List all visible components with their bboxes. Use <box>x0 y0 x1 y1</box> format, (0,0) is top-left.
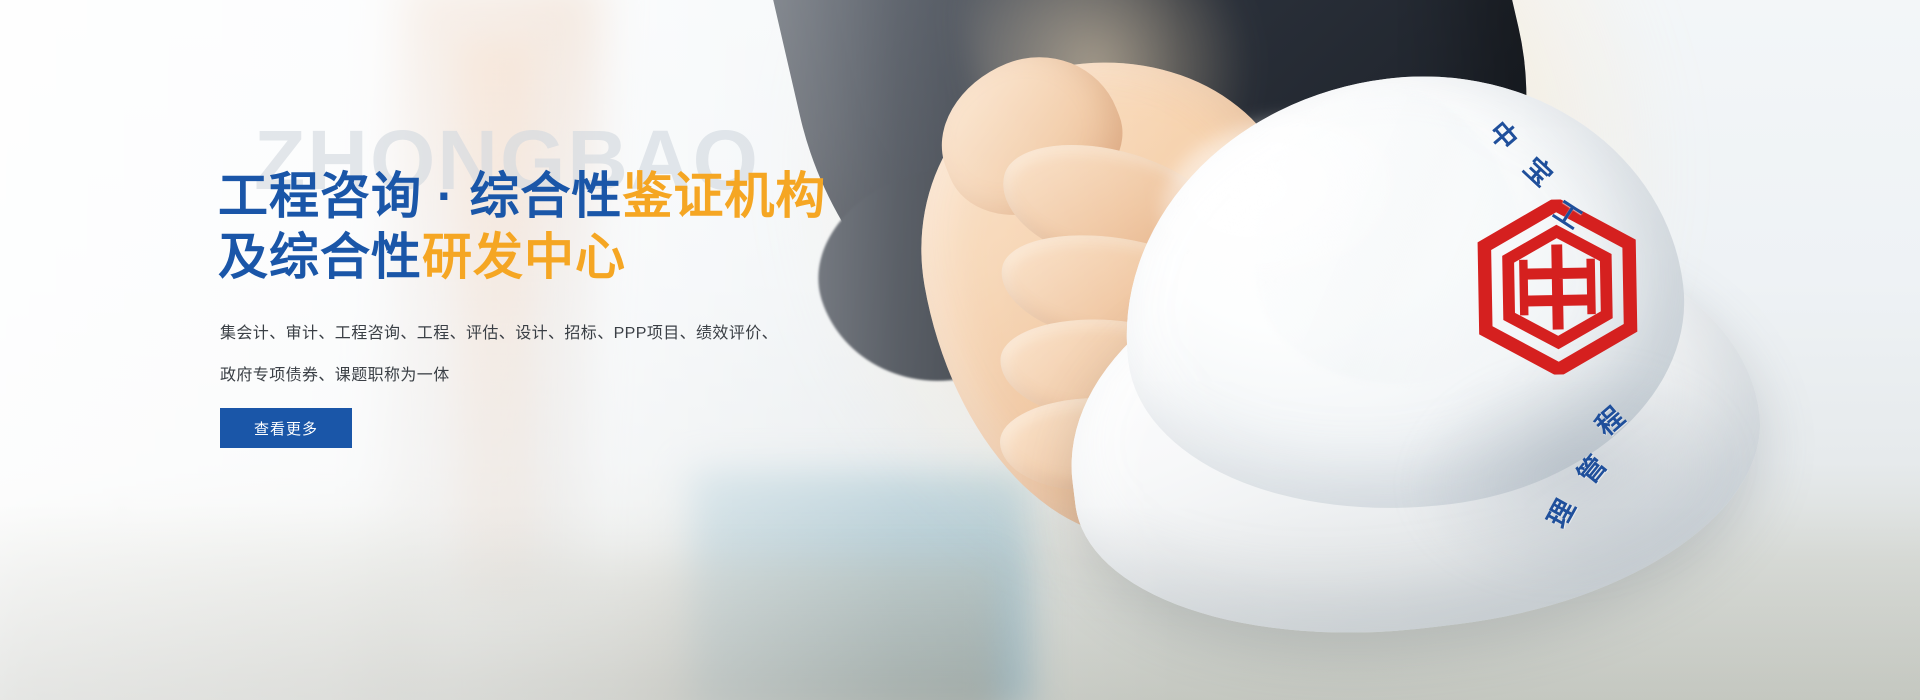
headline-line-1: 工程咨询 · 综合性鉴证机构 <box>218 166 826 227</box>
hard-hat-char-2: 工 <box>1547 189 1591 236</box>
hard-hat-char-1: 宝 <box>1516 147 1562 194</box>
headline-line-2-primary: 及综合性 <box>218 229 422 285</box>
view-more-button[interactable]: 查看更多 <box>220 408 352 448</box>
headline-line-2: 及综合性研发中心 <box>218 227 826 288</box>
hero-content: ZHONGBAO 工程咨询 · 综合性鉴证机构 及综合性研发中心 集会计、审计、… <box>218 0 1018 700</box>
hero-banner: 中 宝 工 程 管 理 ZHONGBAO 工程咨询 · 综合性鉴证机构 及综合性… <box>0 0 1920 700</box>
hero-description-line-1: 集会计、审计、工程咨询、工程、评估、设计、招标、PPP项目、绩效评价、 <box>220 313 820 355</box>
hero-description-line-2: 政府专项债券、课题职称为一体 <box>220 355 820 397</box>
hard-hat-char-0: 中 <box>1481 111 1528 157</box>
hard-hat-brand-text: 中 宝 工 程 管 理 <box>1362 90 1741 547</box>
hard-hat-char-4: 管 <box>1567 446 1614 492</box>
hard-hat-char-3: 程 <box>1586 396 1632 443</box>
hero-description: 集会计、审计、工程咨询、工程、评估、设计、招标、PPP项目、绩效评价、 政府专项… <box>220 313 820 396</box>
headline-line-1-primary: 工程咨询 · 综合性 <box>218 168 622 224</box>
headline-line-1-accent: 鉴证机构 <box>622 168 826 224</box>
page-title: 工程咨询 · 综合性鉴证机构 及综合性研发中心 <box>218 166 826 288</box>
headline-line-2-accent: 研发中心 <box>422 229 626 285</box>
